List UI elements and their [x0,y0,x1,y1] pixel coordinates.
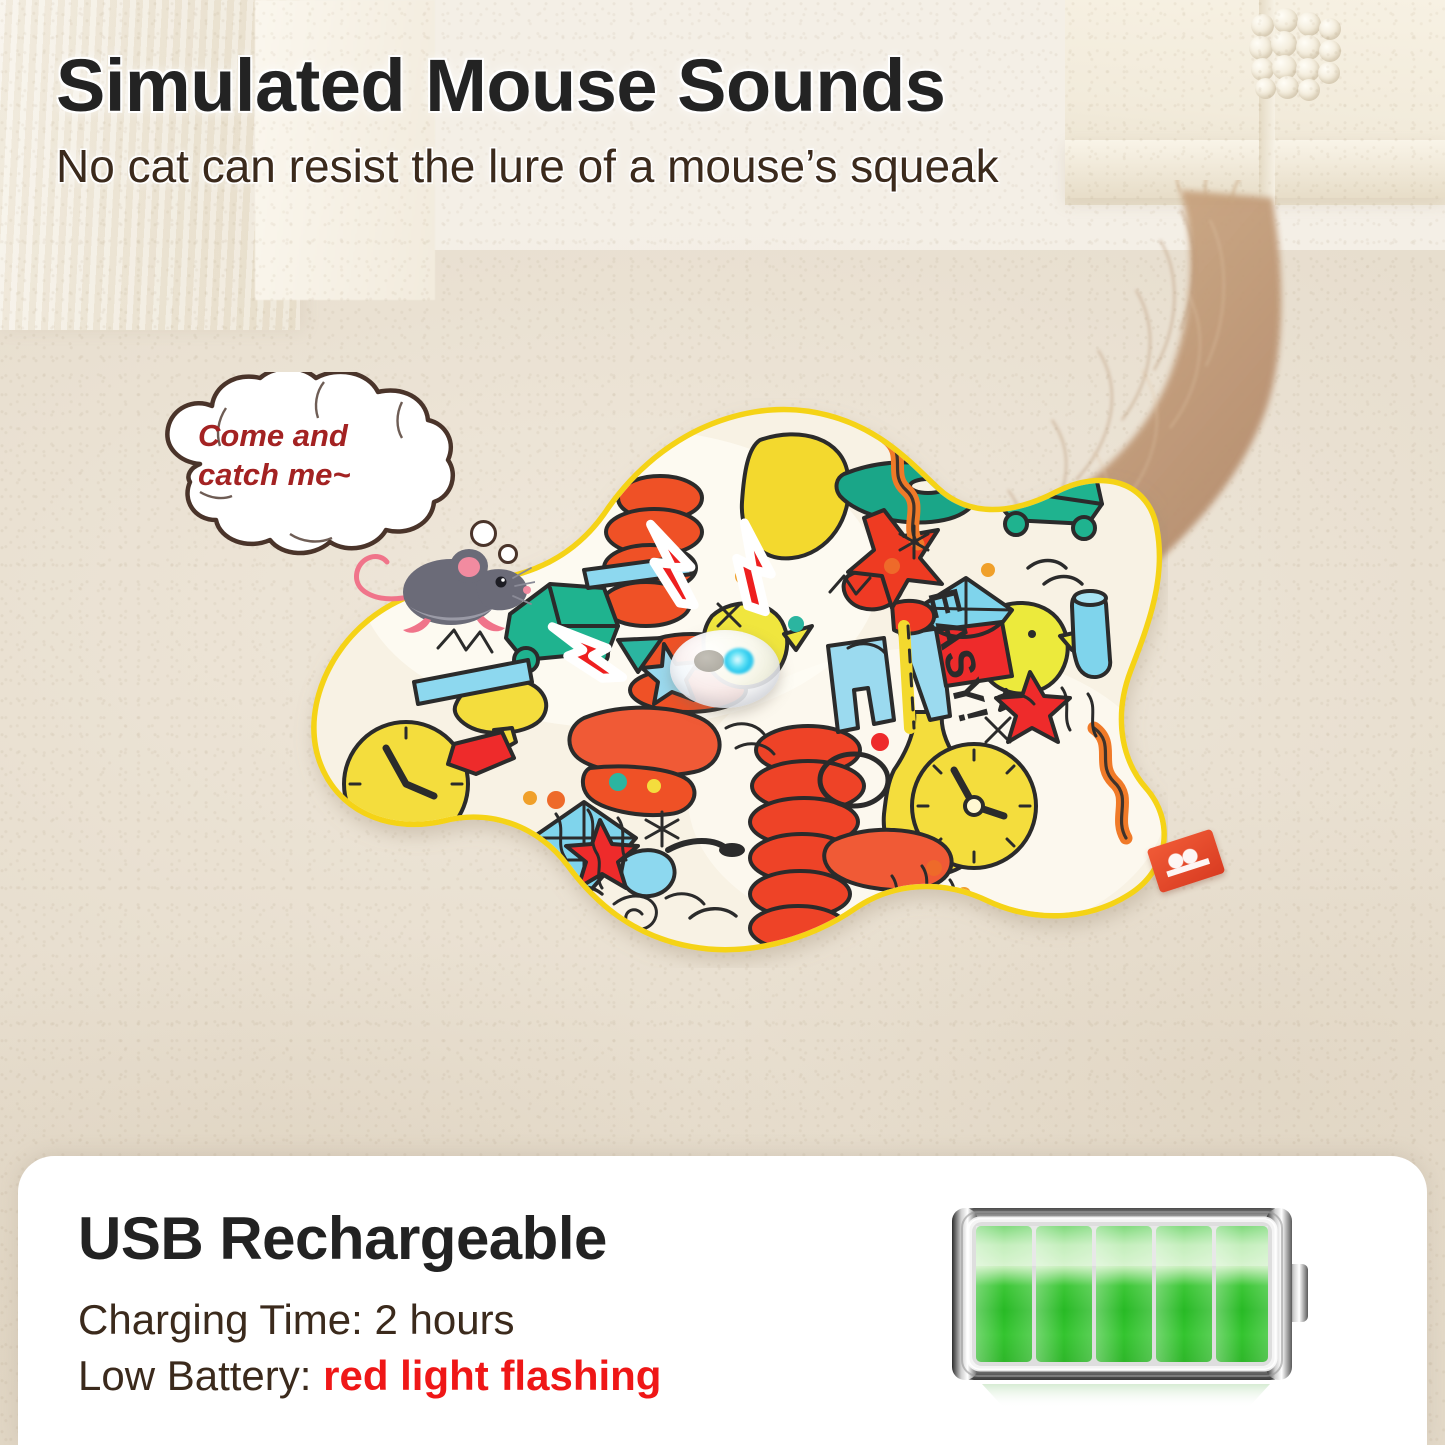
battery-full-icon [930,1196,1330,1411]
bubble-line-1: Come and [198,416,398,455]
bubble-text: Come and catch me~ [198,416,398,494]
brand-logo-icon [1161,843,1210,878]
sound-module-dome[interactable] [670,630,780,708]
module-button[interactable] [694,650,724,672]
low-battery-label: Low Battery: [78,1352,323,1399]
bubble-line-2: catch me~ [198,455,398,494]
low-battery-row: Low Battery: red light flashing [78,1352,661,1400]
charging-time-label: Charging Time: 2 hours [78,1296,515,1344]
page-subtitle: No cat can resist the lure of a mouse’s … [56,141,1386,192]
panel-title: USB Rechargeable [78,1204,607,1273]
page-title: Simulated Mouse Sounds [56,48,1386,123]
headline-block: Simulated Mouse Sounds No cat can resist… [0,48,1386,192]
module-led-indicator [724,648,754,674]
cartoon-mouse-icon [345,520,535,650]
low-battery-value: red light flashing [323,1352,661,1399]
product-feature-image: EASY! [0,0,1445,1445]
thought-bubble: Come and catch me~ [140,372,440,542]
